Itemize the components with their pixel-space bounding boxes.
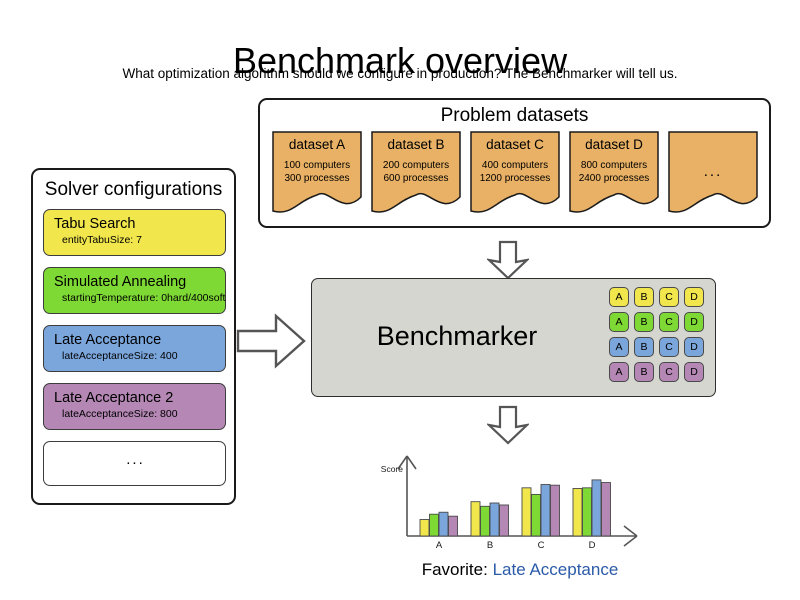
benchmark-run-row: ABCD (609, 287, 704, 307)
chart-bar (439, 512, 448, 536)
chart-bar (551, 485, 560, 536)
chart-bar (420, 520, 429, 537)
benchmark-run-badge[interactable]: A (609, 287, 629, 307)
problem-dataset-card[interactable]: dataset C400 computers1200 processes (470, 131, 560, 217)
problem-dataset-name: dataset C (470, 131, 560, 152)
solver-config-param: lateAcceptanceSize: 800 (54, 407, 217, 421)
problem-dataset-text: dataset D800 computers2400 processes (569, 131, 659, 185)
solver-config-card[interactable]: Late Acceptance 2lateAcceptanceSize: 800 (43, 383, 226, 430)
solver-config-more-card[interactable]: ... (43, 441, 226, 486)
benchmark-run-badge[interactable]: C (659, 312, 679, 332)
benchmark-run-badge[interactable]: B (634, 287, 654, 307)
chart-bar (449, 516, 458, 536)
chart-bar (481, 506, 490, 536)
solver-config-card[interactable]: Tabu SearchentityTabuSize: 7 (43, 209, 226, 256)
problem-dataset-computers: 200 computers (371, 152, 461, 172)
benchmark-run-badge[interactable]: C (659, 337, 679, 357)
solver-config-param: lateAcceptanceSize: 400 (54, 349, 217, 363)
benchmark-run-badge[interactable]: D (684, 312, 704, 332)
solver-configuration-list: Tabu SearchentityTabuSize: 7Simulated An… (43, 209, 226, 486)
chart-bar (541, 485, 550, 536)
problem-dataset-more-text: ... (668, 131, 758, 180)
page-subtitle: What optimization algorithm should we co… (0, 66, 800, 81)
solver-configurations-panel: Solver configurations Tabu SearchentityT… (31, 168, 236, 505)
chart-bar (583, 488, 592, 536)
benchmark-run-row: ABCD (609, 312, 704, 332)
benchmark-run-badge[interactable]: D (684, 337, 704, 357)
result-chart-svg: ScoreABCD (375, 448, 655, 553)
favorite-prefix-label: Favorite: (422, 560, 488, 579)
benchmark-run-matrix: ABCDABCDABCDABCD (609, 287, 704, 382)
problem-dataset-computers: 800 computers (569, 152, 659, 172)
chart-x-tick-label: C (538, 540, 545, 551)
problem-dataset-name: dataset D (569, 131, 659, 152)
benchmark-run-badge[interactable]: C (659, 362, 679, 382)
chart-bar (602, 483, 611, 536)
y-axis-label: Score (381, 464, 403, 474)
favorite-line: Favorite: Late Acceptance (300, 560, 740, 580)
solver-config-name: Tabu Search (54, 216, 217, 233)
problem-datasets-title: Problem datasets (260, 106, 769, 125)
problem-dataset-text: dataset A100 computers300 processes (272, 131, 362, 185)
benchmark-run-badge[interactable]: B (634, 337, 654, 357)
problem-dataset-name: dataset B (371, 131, 461, 152)
problem-dataset-card[interactable]: dataset D800 computers2400 processes (569, 131, 659, 217)
benchmark-run-row: ABCD (609, 337, 704, 357)
benchmark-run-row: ABCD (609, 362, 704, 382)
problem-dataset-list: dataset A100 computers300 processesdatas… (272, 131, 758, 217)
solver-config-name: Late Acceptance (54, 332, 217, 349)
solver-config-name: Late Acceptance 2 (54, 390, 217, 407)
benchmark-run-badge[interactable]: B (634, 362, 654, 382)
problem-dataset-more-card[interactable]: ... (668, 131, 758, 217)
chart-bar (592, 480, 601, 536)
problem-dataset-processes: 600 processes (371, 172, 461, 185)
benchmark-run-badge[interactable]: C (659, 287, 679, 307)
problem-dataset-text: dataset B200 computers600 processes (371, 131, 461, 185)
result-bar-chart: ScoreABCD (375, 448, 655, 553)
benchmark-run-badge[interactable]: A (609, 362, 629, 382)
arrow-down-result-icon (487, 405, 529, 450)
diagram-canvas: Benchmark overview What optimization alg… (0, 0, 800, 600)
benchmarker-box: Benchmarker ABCDABCDABCDABCD (311, 278, 716, 397)
benchmarker-label: Benchmarker (312, 323, 602, 350)
solver-configurations-title: Solver configurations (33, 180, 234, 199)
problem-dataset-more-label: ... (668, 131, 758, 180)
benchmark-run-badge[interactable]: A (609, 312, 629, 332)
problem-dataset-processes: 300 processes (272, 172, 362, 185)
chart-bar (532, 494, 541, 536)
chart-x-tick-label: D (589, 540, 596, 551)
favorite-value-label: Late Acceptance (493, 560, 619, 579)
chart-bar (522, 488, 531, 536)
solver-config-more-label: ... (126, 451, 145, 468)
solver-config-card[interactable]: Late AcceptancelateAcceptanceSize: 400 (43, 325, 226, 372)
chart-bar (500, 505, 509, 536)
benchmark-run-badge[interactable]: B (634, 312, 654, 332)
chart-x-tick-label: A (436, 540, 443, 551)
benchmark-run-badge[interactable]: D (684, 287, 704, 307)
chart-bar (573, 488, 582, 536)
problem-dataset-text: dataset C400 computers1200 processes (470, 131, 560, 185)
benchmark-run-badge[interactable]: D (684, 362, 704, 382)
chart-bar (471, 502, 480, 536)
problem-dataset-name: dataset A (272, 131, 362, 152)
solver-config-param: startingTemperature: 0hard/400soft (54, 291, 217, 305)
problem-dataset-card[interactable]: dataset A100 computers300 processes (272, 131, 362, 217)
problem-dataset-processes: 1200 processes (470, 172, 560, 185)
problem-dataset-computers: 400 computers (470, 152, 560, 172)
problem-dataset-card[interactable]: dataset B200 computers600 processes (371, 131, 461, 217)
chart-bar (430, 514, 439, 536)
solver-config-param: entityTabuSize: 7 (54, 233, 217, 247)
benchmark-run-badge[interactable]: A (609, 337, 629, 357)
problem-dataset-processes: 2400 processes (569, 172, 659, 185)
problem-dataset-computers: 100 computers (272, 152, 362, 172)
problem-datasets-panel: Problem datasets dataset A100 computers3… (258, 98, 771, 228)
chart-x-tick-label: B (487, 540, 493, 551)
arrow-right-icon (236, 313, 306, 374)
solver-config-name: Simulated Annealing (54, 274, 217, 291)
chart-bar (490, 503, 499, 536)
solver-config-card[interactable]: Simulated AnnealingstartingTemperature: … (43, 267, 226, 314)
